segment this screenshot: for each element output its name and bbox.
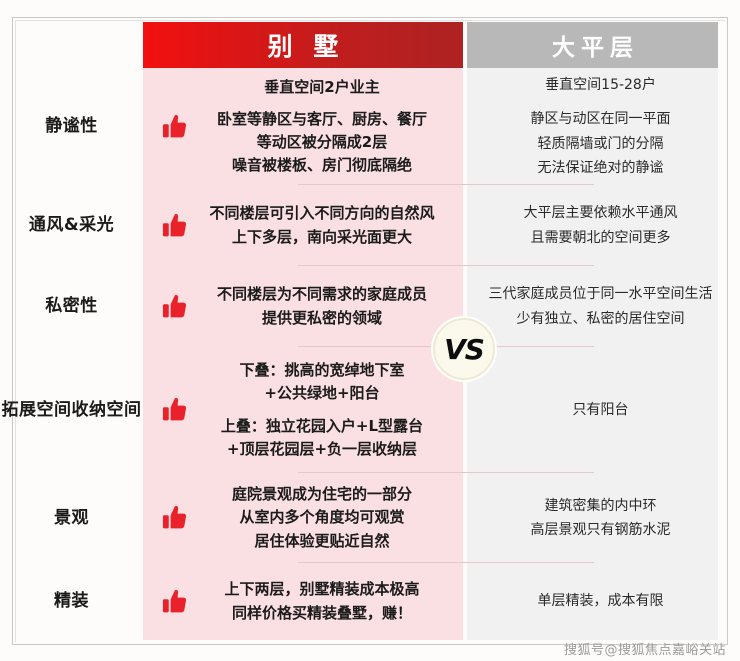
thumbs-up-icon [157,110,191,144]
villa-text: 下叠：挑高的宽绰地下室+公共绿地+阳台上叠：独立花园入户+L型露台+顶层花园层+… [191,359,459,461]
flat-cell: 建筑密集的内中环高层景观只有钢筋水泥 [467,473,740,563]
flat-column-header: 大平层 [467,22,718,68]
flat-cell: 大平层主要依赖水平通风且需要朝北的空间更多 [467,185,740,266]
watermark-text: 搜狐号@搜狐焦点嘉峪关站 [564,639,726,658]
table-row: 景观庭院景观成为住宅的一部分从室内多个角度均可观赏居住体验更贴近自然建筑密集的内… [0,473,740,563]
table-row: 精装上下两层，别墅精装成本极高同样价格买精装叠墅，赚！单层精装，成本有限 [0,563,740,640]
villa-column-header: 别 墅 [143,22,463,68]
table-row: 通风&采光不同楼层可引入不同方向的自然风上下多层，南向采光面更大大平层主要依赖水… [0,185,740,266]
thumbs-up-icon [157,290,191,324]
table-row: 静谧性垂直空间2户业主卧室等静区与客厅、厨房、餐厅等动区被分隔成2层噪音被楼板、… [0,68,740,185]
thumbs-up-icon [157,209,191,243]
villa-text: 不同楼层为不同需求的家庭成员提供更私密的领域 [191,283,459,330]
villa-text: 上下两层，别墅精装成本极高同样价格买精装叠墅，赚！ [191,578,459,625]
villa-cell: 不同楼层可引入不同方向的自然风上下多层，南向采光面更大 [143,185,467,266]
vs-badge: VS [433,318,495,380]
villa-text: 不同楼层可引入不同方向的自然风上下多层，南向采光面更大 [191,202,459,249]
flat-text: 三代家庭成员位于同一水平空间生活少有独立、私密的居住空间 [475,282,726,330]
row-label: 拓展空间收纳空间 [0,347,143,473]
villa-cell: 庭院景观成为住宅的一部分从室内多个角度均可观赏居住体验更贴近自然 [143,473,467,563]
villa-text: 垂直空间2户业主卧室等静区与客厅、厨房、餐厅等动区被分隔成2层噪音被楼板、房门彻… [191,76,459,178]
row-label: 精装 [0,563,143,640]
flat-cell: 三代家庭成员位于同一水平空间生活少有独立、私密的居住空间 [467,266,740,347]
row-label: 静谧性 [0,68,143,185]
flat-text: 大平层主要依赖水平通风且需要朝北的空间更多 [475,201,726,249]
flat-cell: 只有阳台 [467,347,740,473]
villa-cell: 上下两层，别墅精装成本极高同样价格买精装叠墅，赚！ [143,563,467,640]
row-label: 通风&采光 [0,185,143,266]
row-label: 景观 [0,473,143,563]
flat-cell: 垂直空间15-28户静区与动区在同一平面轻质隔墙或门的分隔无法保证绝对的静谧 [467,68,740,185]
comparison-rows: 静谧性垂直空间2户业主卧室等静区与客厅、厨房、餐厅等动区被分隔成2层噪音被楼板、… [0,68,740,640]
vs-badge-label: VS [444,333,484,366]
flat-text: 垂直空间15-28户静区与动区在同一平面轻质隔墙或门的分隔无法保证绝对的静谧 [475,73,726,179]
villa-cell: 下叠：挑高的宽绰地下室+公共绿地+阳台上叠：独立花园入户+L型露台+顶层花园层+… [143,347,467,473]
flat-text: 建筑密集的内中环高层景观只有钢筋水泥 [475,494,726,542]
table-row: 私密性不同楼层为不同需求的家庭成员提供更私密的领域三代家庭成员位于同一水平空间生… [0,266,740,347]
table-row: 拓展空间收纳空间下叠：挑高的宽绰地下室+公共绿地+阳台上叠：独立花园入户+L型露… [0,347,740,473]
flat-cell: 单层精装，成本有限 [467,563,740,640]
flat-text: 单层精装，成本有限 [475,589,726,613]
thumbs-up-icon [157,501,191,535]
villa-text: 庭院景观成为住宅的一部分从室内多个角度均可观赏居住体验更贴近自然 [191,483,459,553]
villa-cell: 不同楼层为不同需求的家庭成员提供更私密的领域 [143,266,467,347]
row-label: 私密性 [0,266,143,347]
thumbs-up-icon [157,585,191,619]
flat-text: 只有阳台 [475,398,726,422]
thumbs-up-icon [157,393,191,427]
villa-cell: 垂直空间2户业主卧室等静区与客厅、厨房、餐厅等动区被分隔成2层噪音被楼板、房门彻… [143,68,467,185]
comparison-infographic: 别 墅 大平层 静谧性垂直空间2户业主卧室等静区与客厅、厨房、餐厅等动区被分隔成… [0,0,740,661]
